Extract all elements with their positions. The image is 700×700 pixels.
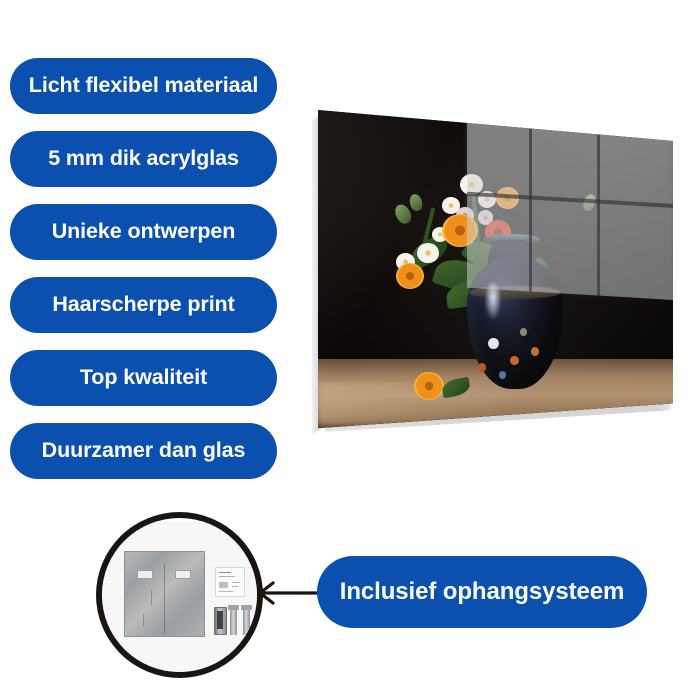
window-reflection: [467, 108, 673, 299]
feature-badge-duurzamer-dan-glas[interactable]: Duurzamer dan glas: [10, 423, 277, 479]
artwork-surface: [318, 108, 673, 438]
reflection-frame-bar: [467, 108, 673, 119]
mounting-kit-photo: [96, 521, 263, 678]
feature-badge-unieke-ontwerpen[interactable]: Unieke ontwerpen: [10, 204, 277, 260]
artwork-vase-motif: [510, 356, 519, 366]
callout-badge-label: Inclusief ophangsysteem: [340, 580, 624, 604]
mounting-plate: [124, 551, 205, 637]
mounting-plate-slot: [137, 570, 153, 579]
reflection-frame-bar: [467, 191, 673, 207]
feature-badge-label: Haarscherpe print: [52, 294, 234, 316]
feature-badge-label: Unieke ontwerpen: [52, 221, 236, 243]
feature-badge-label: Licht flexibel materiaal: [29, 75, 258, 97]
feature-badge-5-mm-dik-acrylglas[interactable]: 5 mm dik acrylglas: [10, 131, 277, 187]
callout-badge-inclusief-ophangsysteem[interactable]: Inclusief ophangsysteem: [317, 556, 647, 628]
acrylic-print-panel: [305, 100, 680, 445]
callout-arrow: [247, 575, 327, 611]
feature-badge-haarscherpe-print[interactable]: Haarscherpe print: [10, 277, 277, 333]
instruction-sheet: [215, 567, 245, 597]
reflection-frame-bar: [529, 108, 532, 291]
artwork-vase-motif: [478, 363, 486, 372]
feature-badge-licht-flexibel-materiaal[interactable]: Licht flexibel materiaal: [10, 58, 277, 114]
promo-infographic: Licht flexibel materiaal 5 mm dik acrylg…: [0, 0, 700, 700]
reflection-frame-bar: [597, 110, 600, 295]
mounting-plate-mark: [143, 614, 144, 626]
feature-badge-label: Top kwaliteit: [80, 367, 207, 389]
artwork-fallen-flower: [414, 372, 444, 400]
artwork-vase-motif: [531, 347, 539, 356]
feature-badge-label: 5 mm dik acrylglas: [48, 148, 239, 170]
feature-badge-label: Duurzamer dan glas: [42, 440, 246, 462]
mounting-kit-circle: [96, 512, 263, 678]
mounting-plate-guide: [164, 564, 165, 634]
artwork-flower-white: [417, 243, 438, 263]
screw: [230, 605, 237, 635]
mounting-plate-mark: [151, 590, 152, 606]
spacer-cap: [258, 621, 263, 634]
artwork-vase-motif: [499, 371, 506, 378]
feature-badge-top-kwaliteit[interactable]: Top kwaliteit: [10, 350, 277, 406]
artwork-vase-motif: [488, 338, 499, 349]
wall-anchor: [214, 607, 227, 635]
mounting-plate-slot: [175, 570, 191, 579]
